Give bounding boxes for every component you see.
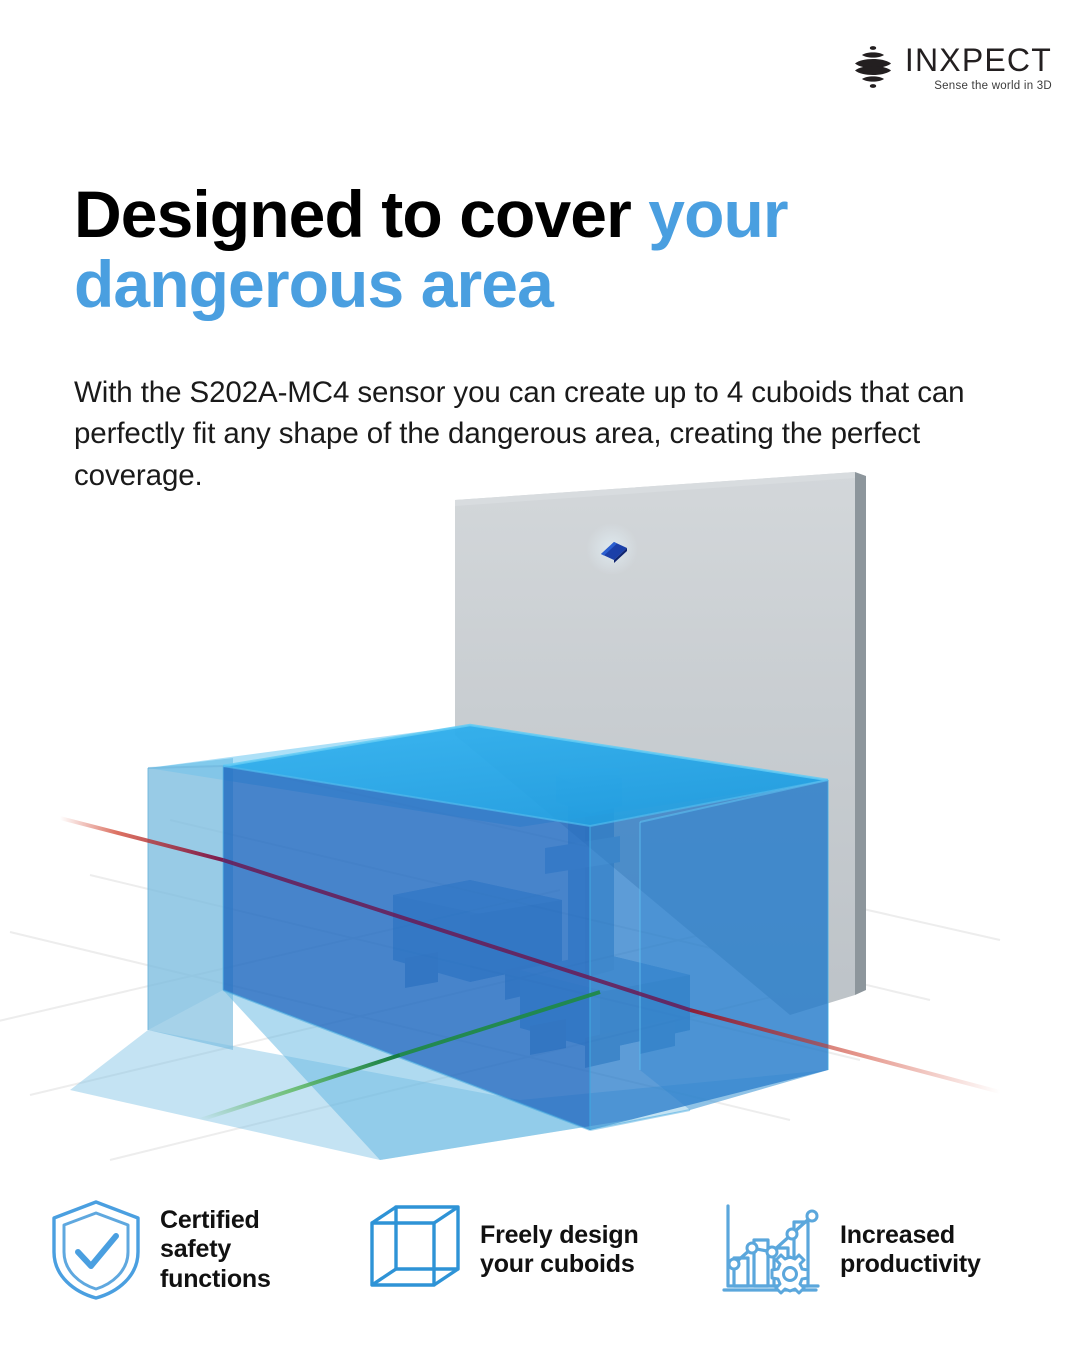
shield-check-icon bbox=[48, 1198, 144, 1302]
headline-line2-accent: dangerous area bbox=[74, 247, 553, 321]
brand-logo: INXPECT Sense the world in 3D bbox=[851, 44, 1052, 93]
feature-row: Certified safety functions Freely design… bbox=[0, 1185, 1080, 1315]
feature-freely-design: Freely design your cuboids bbox=[360, 1185, 710, 1315]
page-title: Designed to cover your dangerous area bbox=[74, 180, 994, 320]
feature-increased-productivity: Increased productivity bbox=[710, 1185, 1080, 1315]
brand-wordmark: INXPECT bbox=[905, 44, 1052, 76]
inxpect-radar-waves-icon bbox=[851, 44, 895, 90]
brand-tagline: Sense the world in 3D bbox=[934, 81, 1052, 93]
feature-label: Certified safety functions bbox=[160, 1206, 271, 1295]
feature-label: Freely design your cuboids bbox=[480, 1221, 639, 1280]
feature-label: Increased productivity bbox=[840, 1221, 981, 1280]
cuboid-left-slab bbox=[148, 766, 223, 1030]
radar-sensor-icon bbox=[586, 523, 638, 575]
feature-certified-safety: Certified safety functions bbox=[0, 1185, 360, 1315]
headline-line1-accent: your bbox=[648, 177, 787, 251]
coverage-3d-illustration bbox=[0, 470, 1080, 1170]
bar-chart-gear-icon bbox=[720, 1200, 824, 1300]
coverage-3d-scene bbox=[0, 470, 1080, 1170]
wireframe-cube-icon bbox=[366, 1201, 464, 1299]
headline-line1-black: Designed to cover bbox=[74, 177, 648, 251]
cuboid-right bbox=[640, 780, 828, 1110]
